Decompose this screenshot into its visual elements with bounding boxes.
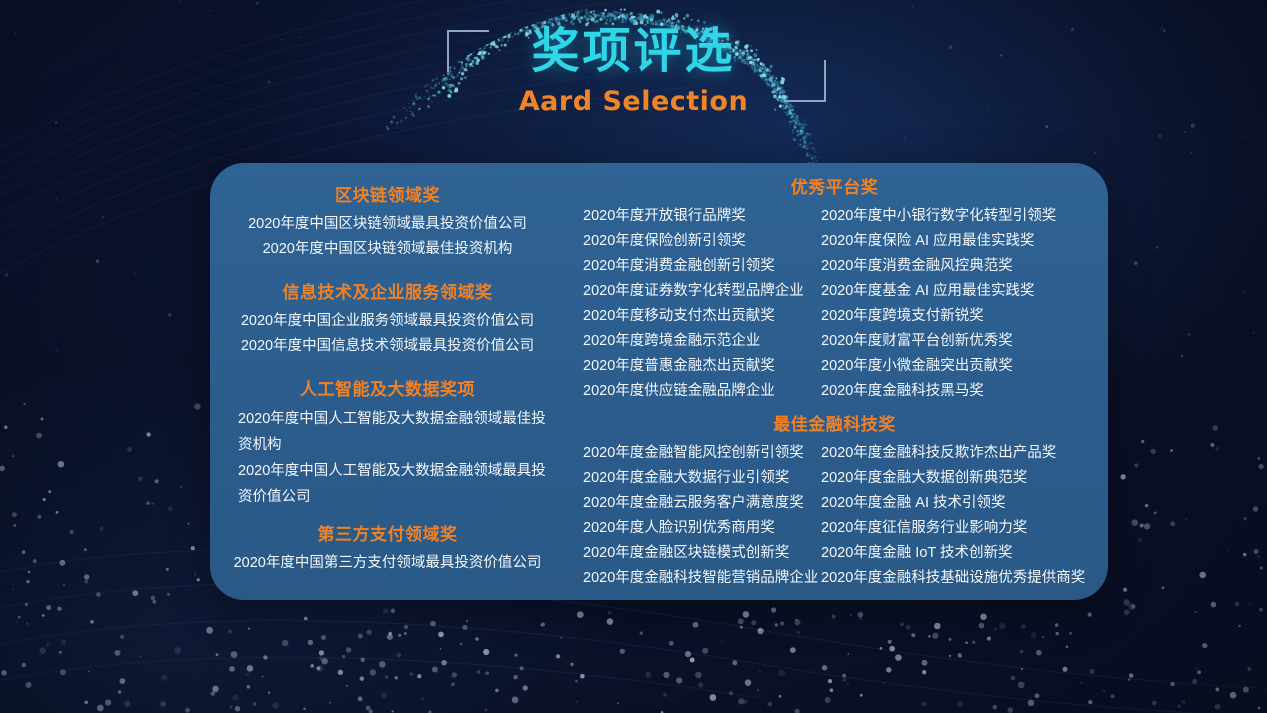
right-column: 优秀平台奖 2020年度开放银行品牌奖 2020年度保险创新引领奖 2020年度… <box>565 163 1108 600</box>
award-group-third-party-payment: 第三方支付领域奖 2020年度中国第三方支付领域最具投资价值公司 <box>220 520 555 576</box>
award-item: 2020年度消费金融创新引领奖 <box>583 254 821 279</box>
award-item: 2020年度金融科技黑马奖 <box>821 379 1100 404</box>
award-group-best-fintech: 最佳金融科技奖 2020年度金融智能风控创新引领奖 2020年度金融大数据行业引… <box>569 410 1100 591</box>
award-item: 2020年度消费金融风控典范奖 <box>821 254 1100 279</box>
awards-card: 区块链领域奖 2020年度中国区块链领域最具投资价值公司 2020年度中国区块链… <box>210 163 1108 600</box>
award-item: 2020年度金融大数据创新典范奖 <box>821 466 1100 491</box>
award-item: 2020年度财富平台创新优秀奖 <box>821 329 1100 354</box>
award-item: 2020年度中国企业服务领域最具投资价值公司 <box>220 309 555 334</box>
award-item: 2020年度金融科技反欺诈杰出产品奖 <box>821 441 1100 466</box>
award-item: 2020年度金融大数据行业引领奖 <box>583 466 821 491</box>
award-item: 2020年度人脸识别优秀商用奖 <box>583 516 821 541</box>
award-group-it-enterprise-service: 信息技术及企业服务领域奖 2020年度中国企业服务领域最具投资价值公司 2020… <box>220 278 555 359</box>
award-group-ai-bigdata: 人工智能及大数据奖项 2020年度中国人工智能及大数据金融领域最佳投资机构 20… <box>220 375 555 510</box>
left-column: 区块链领域奖 2020年度中国区块链领域最具投资价值公司 2020年度中国区块链… <box>210 163 565 600</box>
award-item: 2020年度金融科技智能营销品牌企业 <box>583 566 821 591</box>
award-item: 2020年度保险创新引领奖 <box>583 229 821 254</box>
award-item: 2020年度金融区块链模式创新奖 <box>583 541 821 566</box>
award-item: 2020年度开放银行品牌奖 <box>583 204 821 229</box>
award-item: 2020年度跨境支付新锐奖 <box>821 304 1100 329</box>
award-item: 2020年度中国区块链领域最具投资价值公司 <box>220 212 555 237</box>
group-heading: 第三方支付领域奖 <box>220 520 555 545</box>
group-heading: 最佳金融科技奖 <box>569 410 1100 435</box>
award-item: 2020年度中国人工智能及大数据金融领域最佳投资机构 <box>220 406 555 458</box>
award-item: 2020年度金融智能风控创新引领奖 <box>583 441 821 466</box>
group-heading: 人工智能及大数据奖项 <box>220 375 555 400</box>
award-item: 2020年度小微金融突出贡献奖 <box>821 354 1100 379</box>
award-group-blockchain: 区块链领域奖 2020年度中国区块链领域最具投资价值公司 2020年度中国区块链… <box>220 181 555 262</box>
page-title-block: 奖项评选 Aard Selection <box>0 26 1267 117</box>
award-item: 2020年度征信服务行业影响力奖 <box>821 516 1100 541</box>
award-item: 2020年度中国区块链领域最佳投资机构 <box>220 237 555 262</box>
group-heading: 信息技术及企业服务领域奖 <box>220 278 555 303</box>
award-item: 2020年度中国人工智能及大数据金融领域最具投资价值公司 <box>220 458 555 510</box>
group-heading: 优秀平台奖 <box>569 173 1100 198</box>
award-item: 2020年度普惠金融杰出贡献奖 <box>583 354 821 379</box>
award-item: 2020年度供应链金融品牌企业 <box>583 379 821 404</box>
award-group-excellent-platform: 优秀平台奖 2020年度开放银行品牌奖 2020年度保险创新引领奖 2020年度… <box>569 173 1100 404</box>
page-title-cn: 奖项评选 <box>0 26 1267 78</box>
award-item: 2020年度金融云服务客户满意度奖 <box>583 491 821 516</box>
award-item: 2020年度金融 AI 技术引领奖 <box>821 491 1100 516</box>
award-item: 2020年度证券数字化转型品牌企业 <box>583 279 821 304</box>
award-item: 2020年度中国第三方支付领域最具投资价值公司 <box>220 551 555 576</box>
award-item: 2020年度金融科技基础设施优秀提供商奖 <box>821 566 1100 591</box>
award-subcolumn-b: 2020年度中小银行数字化转型引领奖 2020年度保险 AI 应用最佳实践奖 2… <box>821 204 1100 404</box>
award-subcolumn-a: 2020年度开放银行品牌奖 2020年度保险创新引领奖 2020年度消费金融创新… <box>569 204 821 404</box>
award-item: 2020年度金融 IoT 技术创新奖 <box>821 541 1100 566</box>
award-item: 2020年度保险 AI 应用最佳实践奖 <box>821 229 1100 254</box>
group-heading: 区块链领域奖 <box>220 181 555 206</box>
page-title-en: Aard Selection <box>0 86 1267 117</box>
award-item: 2020年度中国信息技术领域最具投资价值公司 <box>220 334 555 359</box>
award-item: 2020年度移动支付杰出贡献奖 <box>583 304 821 329</box>
award-item: 2020年度中小银行数字化转型引领奖 <box>821 204 1100 229</box>
award-subcolumn-a: 2020年度金融智能风控创新引领奖 2020年度金融大数据行业引领奖 2020年… <box>569 441 821 591</box>
award-item: 2020年度跨境金融示范企业 <box>583 329 821 354</box>
award-item: 2020年度基金 AI 应用最佳实践奖 <box>821 279 1100 304</box>
award-subcolumn-b: 2020年度金融科技反欺诈杰出产品奖 2020年度金融大数据创新典范奖 2020… <box>821 441 1100 591</box>
